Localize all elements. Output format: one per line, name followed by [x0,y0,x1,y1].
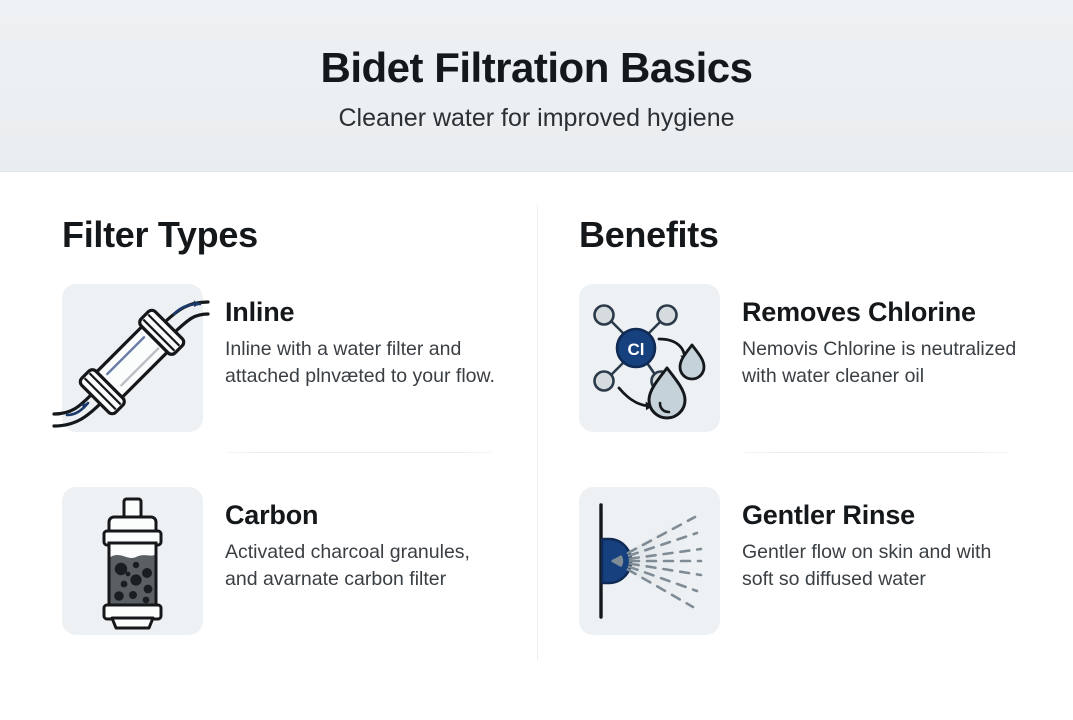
card-gentler-rinse[interactable]: Gentler Rinse Gentler flow on skin and w… [579,487,1039,635]
page-subtitle: Cleaner water for improved hygiene [0,94,1073,134]
page-title: Bidet Filtration Basics [0,0,1073,94]
card-description: Nemovis Chlorine is neutralized with wat… [742,329,1017,390]
carbon-cartridge-icon [62,487,203,635]
card-separator [228,452,492,453]
chlorine-molecule-icon: Cl [579,284,720,432]
column-divider [537,205,538,660]
content-area: Filter Types [0,172,1073,720]
card-text: Removes Chlorine Nemovis Chlorine is neu… [742,284,1017,390]
card-description: Gentler flow on skin and with soft so di… [742,532,1017,593]
column-benefits: Benefits [579,172,1039,635]
page-header: Bidet Filtration Basics Cleaner water fo… [0,0,1073,172]
column-heading-filter-types: Filter Types [62,172,522,257]
card-description: Activated charcoal granules, and avarnat… [225,532,500,593]
card-inline[interactable]: Inline Inline with a water filter and at… [62,284,522,432]
inline-filter-icon [62,284,203,432]
card-description: Inline with a water filter and attached … [225,329,500,390]
column-heading-benefits: Benefits [579,172,1039,257]
card-title: Gentler Rinse [742,499,1017,532]
card-title: Inline [225,296,500,329]
card-text: Carbon Activated charcoal granules, and … [225,487,500,593]
card-title: Removes Chlorine [742,296,1017,329]
card-title: Carbon [225,499,500,532]
card-removes-chlorine[interactable]: Cl Removes Chlorine Nemovis Chlorine i [579,284,1039,432]
card-text: Gentler Rinse Gentler flow on skin and w… [742,487,1017,593]
card-carbon[interactable]: Carbon Activated charcoal granules, and … [62,487,522,635]
spray-nozzle-icon [579,487,720,635]
card-separator [745,452,1009,453]
svg-text:Cl: Cl [628,340,645,359]
card-text: Inline Inline with a water filter and at… [225,284,500,390]
column-filter-types: Filter Types [62,172,522,635]
